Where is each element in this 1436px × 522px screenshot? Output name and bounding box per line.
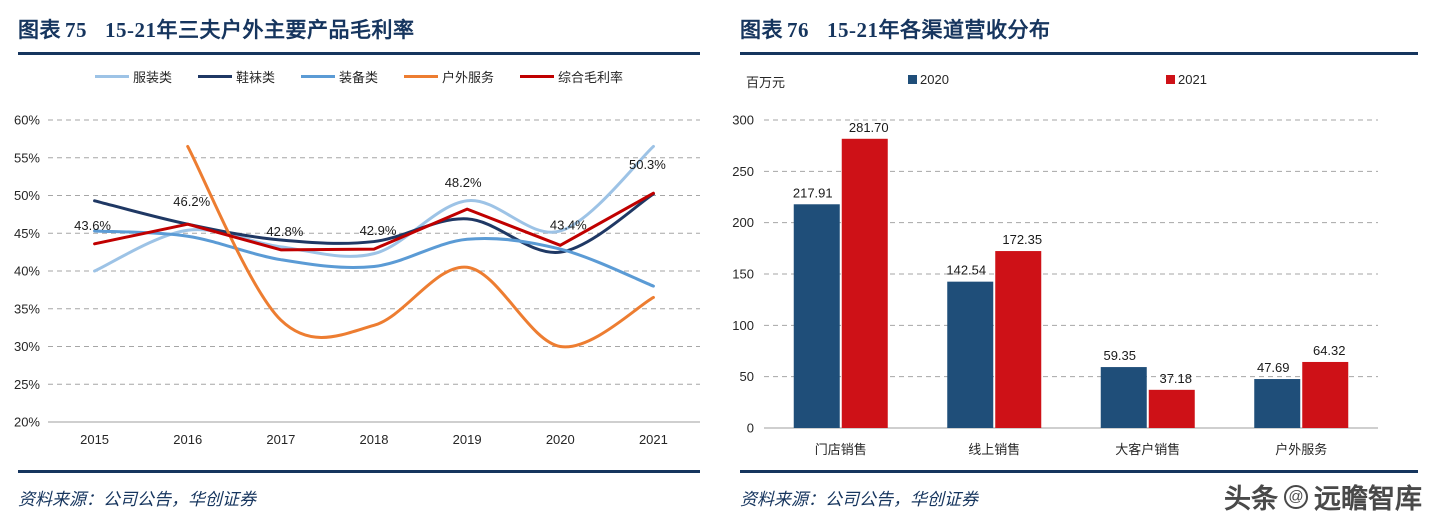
bar-chart-bar xyxy=(1101,367,1147,428)
legend-swatch-equipment xyxy=(301,75,335,78)
bar-chart-y-tick-label: 200 xyxy=(732,215,754,230)
figure-76-title-prefix: 图表 xyxy=(740,18,783,42)
line-chart-x-tick-label: 2020 xyxy=(546,432,575,447)
legend-item-gross-margin[interactable]: 综合毛利率 xyxy=(520,67,623,86)
bar-chart-svg: 050100150200250300门店销售217.91281.70线上销售14… xyxy=(718,92,1436,492)
line-chart-data-label: 48.2% xyxy=(445,175,482,190)
line-chart-y-tick-label: 25% xyxy=(14,377,40,392)
legend-swatch-2020 xyxy=(908,75,917,84)
bar-chart-data-label: 172.35 xyxy=(1002,232,1042,247)
legend-swatch-2021 xyxy=(1166,75,1175,84)
legend-item-footwear[interactable]: 鞋袜类 xyxy=(198,67,275,86)
watermark-at-icon: @ xyxy=(1284,485,1308,509)
bar-chart-bar xyxy=(995,251,1041,428)
bar-chart-bar xyxy=(794,204,840,428)
bar-chart-y-tick-label: 250 xyxy=(732,164,754,179)
line-chart-y-tick-label: 55% xyxy=(14,150,40,165)
line-chart-x-tick-label: 2018 xyxy=(360,432,389,447)
bar-chart-bar xyxy=(1302,362,1348,428)
legend-swatch-gross-margin xyxy=(520,75,554,78)
legend-label-2021: 2021 xyxy=(1178,72,1207,87)
line-chart-series-5 xyxy=(95,193,654,250)
line-chart-y-tick-label: 40% xyxy=(14,264,40,279)
bar-chart-bar xyxy=(1149,390,1195,428)
line-chart-series-2 xyxy=(95,194,654,252)
line-chart-x-tick-label: 2021 xyxy=(639,432,668,447)
legend-swatch-footwear xyxy=(198,75,232,78)
legend-label-gross-margin: 综合毛利率 xyxy=(558,67,623,86)
bar-chart-data-label: 281.70 xyxy=(849,120,889,135)
bar-chart-x-tick-label: 门店销售 xyxy=(815,442,867,457)
line-chart-data-label: 46.2% xyxy=(173,194,210,209)
line-chart-x-tick-label: 2017 xyxy=(266,432,295,447)
figure-76-panel: 图表7615-21年各渠道营收分布 百万元 2020 2021 05010015… xyxy=(718,0,1436,522)
line-chart-data-label: 42.8% xyxy=(266,224,303,239)
line-chart-data-label: 43.6% xyxy=(74,218,111,233)
line-chart-y-tick-label: 35% xyxy=(14,301,40,316)
line-chart-data-label: 43.4% xyxy=(550,217,587,232)
line-chart-y-tick-label: 60% xyxy=(14,113,40,128)
figure-75-source: 资料来源：公司公告，华创证券 xyxy=(18,473,700,510)
legend-swatch-outdoor-service xyxy=(404,75,438,78)
line-chart-series-1 xyxy=(95,146,654,271)
bar-chart-data-label: 217.91 xyxy=(793,185,833,200)
line-chart-x-tick-label: 2016 xyxy=(173,432,202,447)
legend-label-outdoor-service: 户外服务 xyxy=(442,67,494,86)
bar-chart-y-tick-label: 50 xyxy=(740,369,754,384)
line-chart-svg: 20%25%30%35%40%45%50%55%60%2015201620172… xyxy=(0,62,718,522)
bar-chart-x-tick-label: 大客户销售 xyxy=(1115,442,1180,457)
watermark-brand: 头条 xyxy=(1224,477,1278,516)
legend-item-equipment[interactable]: 装备类 xyxy=(301,67,378,86)
figure-75-title-number: 75 xyxy=(61,18,93,42)
figure-75-footer: 资料来源：公司公告，华创证券 xyxy=(18,470,700,510)
figures-page: 图表7515-21年三夫户外主要产品毛利率 服装类 鞋袜类 装备类 户外服务 xyxy=(0,0,1436,522)
figure-76-title-number: 76 xyxy=(783,18,815,42)
line-chart-series-3 xyxy=(95,231,654,286)
figure-75-title-prefix: 图表 xyxy=(18,18,61,42)
figure-76-title-text: 15-21年各渠道营收分布 xyxy=(815,18,1051,42)
figure-76-title-rule xyxy=(740,52,1418,55)
legend-item-2020[interactable]: 2020 xyxy=(908,72,949,87)
line-chart-data-label: 50.3% xyxy=(629,157,666,172)
line-chart-data-label: 42.9% xyxy=(360,223,397,238)
line-chart-y-tick-label: 50% xyxy=(14,188,40,203)
legend-label-2020: 2020 xyxy=(920,72,949,87)
figure-75-panel: 图表7515-21年三夫户外主要产品毛利率 服装类 鞋袜类 装备类 户外服务 xyxy=(0,0,718,522)
line-chart-x-tick-label: 2019 xyxy=(453,432,482,447)
bar-chart-data-label: 64.32 xyxy=(1313,343,1346,358)
bar-chart-legend: 百万元 2020 2021 xyxy=(718,70,1436,92)
bar-chart-bar xyxy=(947,282,993,428)
line-chart-series-4 xyxy=(188,146,654,346)
bar-chart-data-label: 47.69 xyxy=(1257,360,1290,375)
line-chart-y-tick-label: 30% xyxy=(14,339,40,354)
bar-chart-data-label: 37.18 xyxy=(1159,371,1192,386)
legend-item-2021[interactable]: 2021 xyxy=(1166,72,1207,87)
figure-75-title-text: 15-21年三夫户外主要产品毛利率 xyxy=(93,18,415,42)
bar-chart-data-label: 59.35 xyxy=(1103,348,1136,363)
bar-chart-x-tick-label: 户外服务 xyxy=(1275,442,1327,457)
legend-item-apparel[interactable]: 服装类 xyxy=(95,67,172,86)
bar-chart-bar xyxy=(842,139,888,428)
legend-label-footwear: 鞋袜类 xyxy=(236,67,275,86)
line-chart-y-tick-label: 45% xyxy=(14,226,40,241)
bar-chart-x-tick-label: 线上销售 xyxy=(968,442,1020,457)
legend-item-outdoor-service[interactable]: 户外服务 xyxy=(404,67,494,86)
figure-76-title: 图表7615-21年各渠道营收分布 xyxy=(740,0,1418,44)
watermark-name: 远瞻智库 xyxy=(1314,477,1422,516)
legend-label-equipment: 装备类 xyxy=(339,67,378,86)
legend-label-apparel: 服装类 xyxy=(133,67,172,86)
line-chart-legend: 服装类 鞋袜类 装备类 户外服务 综合毛利率 xyxy=(18,55,700,86)
legend-swatch-apparel xyxy=(95,75,129,78)
bar-chart-y-tick-label: 0 xyxy=(747,421,754,436)
bar-chart-y-tick-label: 100 xyxy=(732,318,754,333)
bar-chart-bar xyxy=(1254,379,1300,428)
line-chart-x-tick-label: 2015 xyxy=(80,432,109,447)
bar-chart-unit-label: 百万元 xyxy=(746,72,785,91)
line-chart-y-tick-label: 20% xyxy=(14,415,40,430)
bar-chart-data-label: 142.54 xyxy=(946,263,986,278)
figure-75-title: 图表7515-21年三夫户外主要产品毛利率 xyxy=(18,0,700,44)
watermark: 头条 @ 远瞻智库 xyxy=(1224,477,1422,516)
bar-chart-y-tick-label: 300 xyxy=(732,113,754,128)
bar-chart-y-tick-label: 150 xyxy=(732,267,754,282)
